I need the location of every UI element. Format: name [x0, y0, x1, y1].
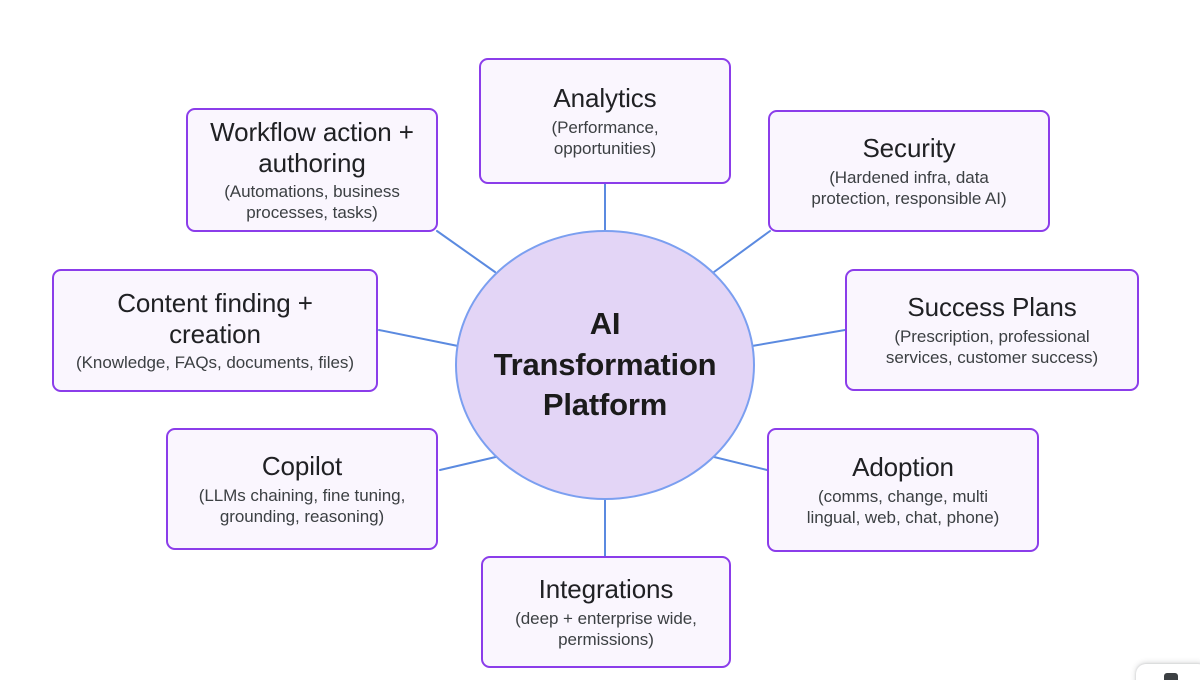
node-content-finding-creation[interactable]: Content finding + creation (Knowledge, F… — [52, 269, 378, 392]
node-adoption[interactable]: Adoption (comms, change, multi lingual, … — [767, 428, 1039, 552]
node-analytics-subtitle: (Performance, opportunities) — [530, 117, 680, 159]
node-copilot-subtitle: (LLMs chaining, fine tuning, grounding, … — [186, 485, 418, 527]
hub-label-line-1: AI — [494, 304, 717, 345]
connector-copilot — [440, 456, 500, 470]
hub-label-line-3: Platform — [494, 385, 717, 426]
toolbar-handle-icon — [1164, 673, 1178, 680]
hub-node-ai-transformation-platform[interactable]: AI Transformation Platform — [455, 230, 755, 500]
node-copilot[interactable]: Copilot (LLMs chaining, fine tuning, gro… — [166, 428, 438, 550]
node-adoption-subtitle: (comms, change, multi lingual, web, chat… — [797, 486, 1009, 528]
connector-workflow — [437, 231, 495, 272]
node-workflow-action-authoring-title: Workflow action + authoring — [200, 117, 425, 179]
node-integrations[interactable]: Integrations (deep + enterprise wide, pe… — [481, 556, 731, 668]
node-adoption-title: Adoption — [852, 452, 954, 483]
node-success-plans-subtitle: (Prescription, professional services, cu… — [867, 326, 1117, 368]
node-security-title: Security — [862, 133, 955, 164]
node-security-subtitle: (Hardened infra, data protection, respon… — [793, 167, 1025, 209]
hub-label-line-2: Transformation — [494, 345, 717, 386]
diagram-canvas: AI Transformation Platform Analytics (Pe… — [0, 0, 1200, 680]
node-security[interactable]: Security (Hardened infra, data protectio… — [768, 110, 1050, 232]
node-analytics[interactable]: Analytics (Performance, opportunities) — [479, 58, 731, 184]
node-content-finding-creation-subtitle: (Knowledge, FAQs, documents, files) — [76, 352, 354, 373]
connector-success-plans — [752, 330, 845, 346]
node-integrations-subtitle: (deep + enterprise wide, permissions) — [497, 608, 715, 650]
node-success-plans-title: Success Plans — [907, 292, 1076, 323]
node-workflow-action-authoring-subtitle: (Automations, business processes, tasks) — [205, 181, 420, 223]
node-copilot-title: Copilot — [262, 451, 342, 482]
node-content-finding-creation-title: Content finding + creation — [95, 288, 335, 350]
node-success-plans[interactable]: Success Plans (Prescription, professiona… — [845, 269, 1139, 391]
node-integrations-title: Integrations — [539, 574, 674, 605]
connector-security — [714, 231, 770, 272]
floating-toolbar-widget[interactable] — [1136, 664, 1200, 680]
connector-content-finding — [379, 330, 458, 346]
node-analytics-title: Analytics — [553, 83, 656, 114]
node-workflow-action-authoring[interactable]: Workflow action + authoring (Automations… — [186, 108, 438, 232]
hub-label: AI Transformation Platform — [480, 304, 731, 427]
connector-adoption — [710, 456, 767, 470]
